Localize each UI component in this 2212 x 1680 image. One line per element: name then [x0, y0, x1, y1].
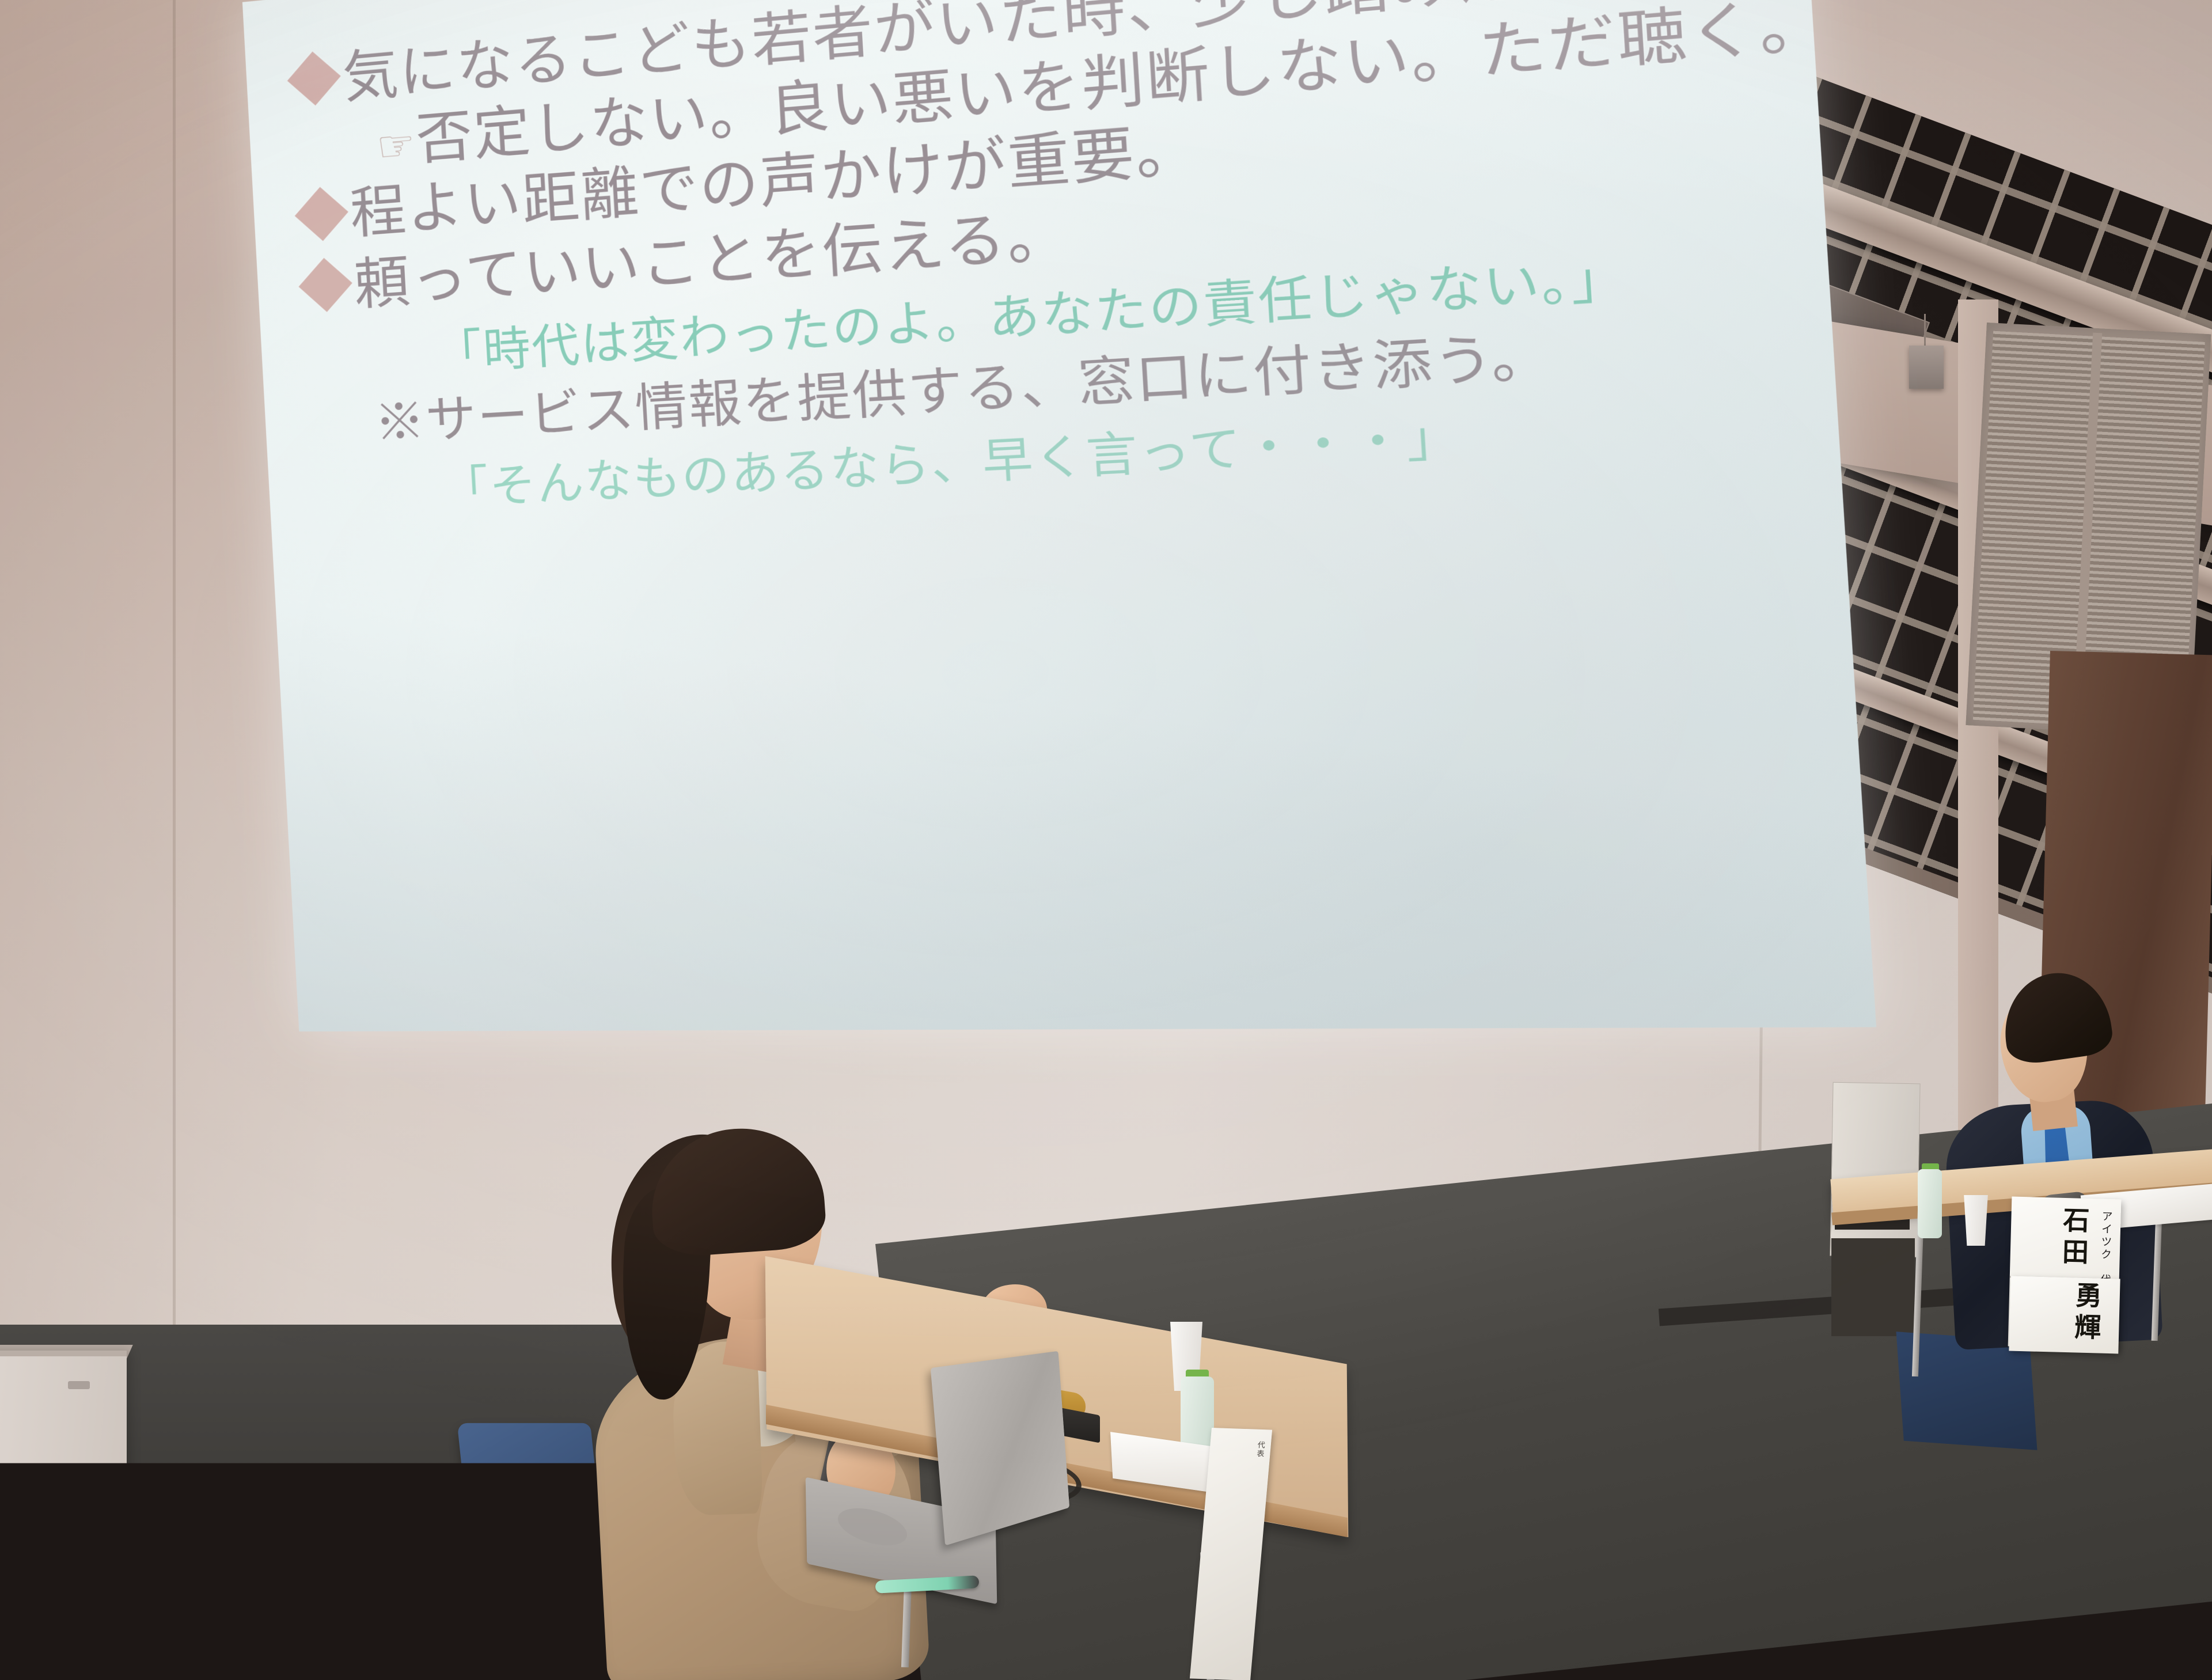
slide-content: ◆気になるこども若者がいた時、少し踏み込んできいてみる。 ☞否定しない。良い悪い…: [242, 0, 1876, 1031]
presentation-room-photo: ◆気になるこども若者がいた時、少し踏み込んできいてみる。 ☞否定しない。良い悪い…: [0, 0, 2212, 1680]
panelist-name-placard-lower: 勇輝: [2009, 1276, 2120, 1354]
diamond-bullet-icon-3: ◆: [297, 254, 356, 320]
placard-surname: 石田: [2054, 1206, 2094, 1271]
panelist-hair: [1997, 966, 2115, 1067]
diamond-bullet-icon-2: ◆: [293, 183, 352, 249]
ceiling-speaker: [1909, 346, 1944, 389]
placard-given-name: 勇輝: [2067, 1281, 2107, 1345]
panelist-water-bottle: [1918, 1169, 1942, 1238]
reference-mark-icon: ※: [373, 393, 427, 452]
cabinet-handle[interactable]: [68, 1381, 90, 1389]
speaker-wire: [1924, 314, 1926, 350]
projection-screen-area: ◆気になるこども若者がいた時、少し踏み込んできいてみる。 ☞否定しない。良い悪い…: [0, 0, 1728, 1175]
projection-screen: ◆気になるこども若者がいた時、少し踏み込んできいてみる。 ☞否定しない。良い悪い…: [242, 0, 1876, 1031]
diamond-bullet-icon: ◆: [285, 47, 344, 114]
floor-cabinet: [0, 1351, 127, 1679]
presenter-chair-back: [457, 1423, 609, 1595]
pointing-hand-icon: ☞: [375, 120, 418, 171]
